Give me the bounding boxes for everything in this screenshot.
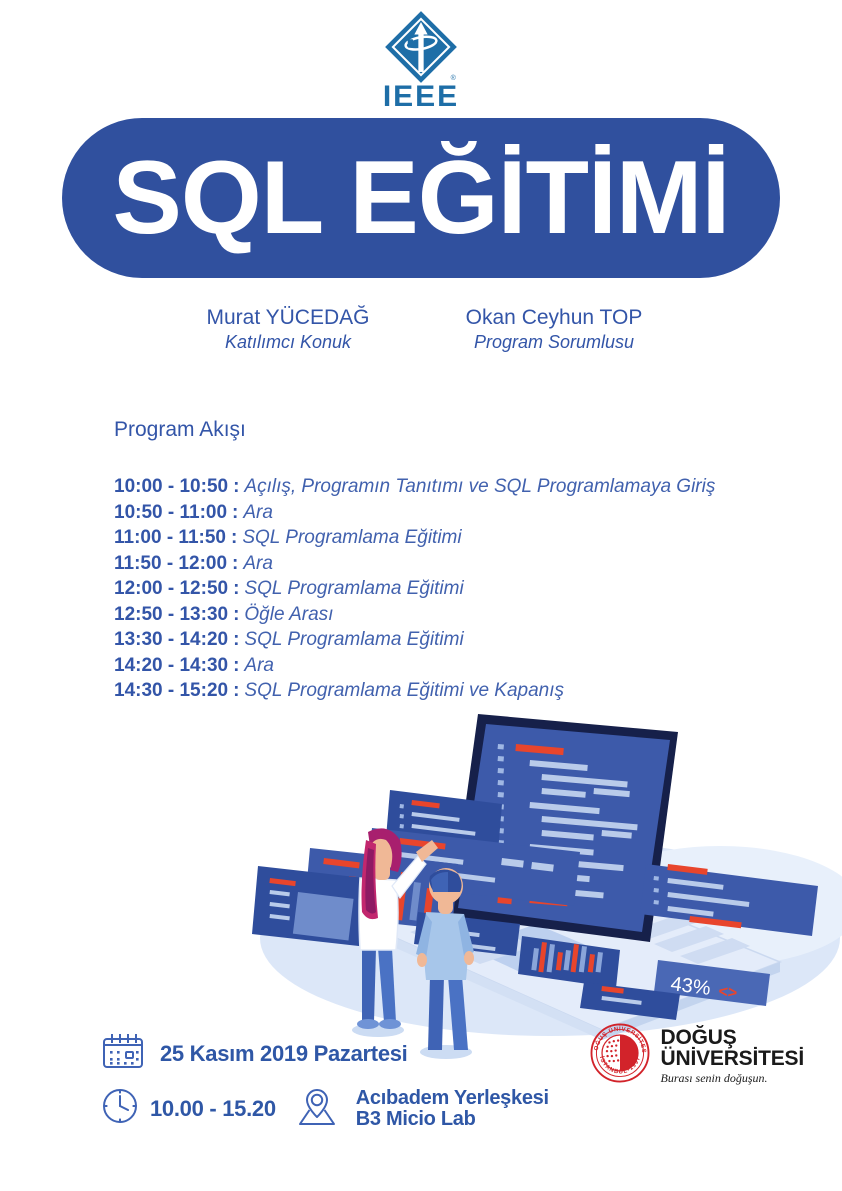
program-desc: Öğle Arası — [244, 602, 333, 628]
isometric-laptop-coding-illustration: 43% <> — [250, 700, 842, 1060]
calendar-icon — [100, 1031, 146, 1076]
program-heading: Program Akışı — [114, 418, 774, 442]
program-time: 11:50 - 12:00 — [114, 551, 227, 577]
event-date: 25 Kasım 2019 Pazartesi — [160, 1042, 408, 1065]
time-venue-block: 10.00 - 15.20 Acıbadem Yerleşkesi B3 Mic… — [100, 1083, 549, 1134]
program-separator: : — [228, 627, 244, 653]
speaker-role: Katılımcı Konuk — [183, 331, 393, 354]
poster-root: ® IEEE SQL EĞİTİMİ Murat YÜCEDAĞ Katılım… — [0, 0, 842, 1191]
university-name: DOĞUŞ ÜNİVERSİTESİ Burası senin doğuşun. — [661, 1027, 804, 1084]
program-separator: : — [228, 653, 244, 679]
program-desc: SQL Programlama Eğitimi — [244, 627, 463, 653]
program-rows: 10:00 - 10:50 : Açılış, Programın Tanıtı… — [114, 474, 774, 704]
program-time: 14:20 - 14:30 — [114, 653, 228, 679]
program-desc: Ara — [243, 500, 273, 526]
program-row: 14:20 - 14:30 : Ara — [114, 653, 774, 679]
program-separator: : — [228, 576, 244, 602]
speaker-name: Okan Ceyhun TOP — [449, 305, 659, 331]
program-desc: SQL Programlama Eğitimi — [244, 576, 463, 602]
speaker-name: Murat YÜCEDAĞ — [183, 305, 393, 331]
ieee-logo: ® IEEE — [0, 8, 842, 112]
speaker-list: Murat YÜCEDAĞ Katılımcı Konuk Okan Ceyhu… — [0, 305, 842, 355]
program-separator: : — [227, 500, 243, 526]
page-title: SQL EĞİTİMİ — [113, 146, 730, 250]
dogus-university-logo: DOĞUŞ ÜNİVERSİTESİ İSTANBUL-1997 DOĞUŞ Ü… — [589, 1022, 804, 1089]
university-line-2: ÜNİVERSİTESİ — [661, 1048, 804, 1069]
speaker-item: Okan Ceyhun TOP Program Sorumlusu — [449, 305, 659, 355]
ieee-wordmark: IEEE — [383, 82, 459, 112]
speaker-role: Program Sorumlusu — [449, 331, 659, 354]
program-row: 12:50 - 13:30 : Öğle Arası — [114, 602, 774, 628]
program-time: 13:30 - 14:20 — [114, 627, 228, 653]
program-time: 12:00 - 12:50 — [114, 576, 228, 602]
program-row: 11:50 - 12:00 : Ara — [114, 551, 774, 577]
program-separator: : — [226, 525, 242, 551]
title-banner: SQL EĞİTİMİ — [62, 118, 780, 278]
program-separator: : — [227, 551, 243, 577]
map-pin-icon — [294, 1083, 340, 1134]
program-row: 13:30 - 14:20 : SQL Programlama Eğitimi — [114, 627, 774, 653]
program-separator: : — [228, 678, 244, 704]
ieee-diamond-icon: ® — [382, 8, 460, 86]
program-time: 10:50 - 11:00 — [114, 500, 227, 526]
program-desc: Açılış, Programın Tanıtımı ve SQL Progra… — [244, 474, 715, 500]
university-seal-icon: DOĞUŞ ÜNİVERSİTESİ İSTANBUL-1997 — [589, 1022, 651, 1089]
program-desc: SQL Programlama Eğitimi — [242, 525, 461, 551]
speaker-item: Murat YÜCEDAĞ Katılımcı Konuk — [183, 305, 393, 355]
venue-line-2: B3 Micio Lab — [356, 1109, 549, 1130]
program-separator: : — [228, 602, 244, 628]
program-section: Program Akışı 10:00 - 10:50 : Açılış, Pr… — [114, 418, 774, 704]
code-bracket-glyph: <> — [718, 983, 739, 1002]
program-row: 10:00 - 10:50 : Açılış, Programın Tanıtı… — [114, 474, 774, 500]
program-desc: Ara — [244, 653, 274, 679]
date-block: 25 Kasım 2019 Pazartesi — [100, 1031, 408, 1076]
venue-block: Acıbadem Yerleşkesi B3 Micio Lab — [356, 1088, 549, 1130]
clock-icon — [100, 1086, 140, 1131]
footer: 25 Kasım 2019 Pazartesi 10.00 - 15.20 — [0, 1023, 842, 1143]
university-line-1: DOĞUŞ — [661, 1027, 804, 1048]
university-tagline: Burası senin doğuşun. — [661, 1072, 804, 1084]
program-time: 10:00 - 10:50 — [114, 474, 228, 500]
svg-text:®: ® — [451, 74, 457, 82]
program-separator: : — [228, 474, 244, 500]
program-time: 12:50 - 13:30 — [114, 602, 228, 628]
program-desc: Ara — [243, 551, 273, 577]
program-row: 11:00 - 11:50 : SQL Programlama Eğitimi — [114, 525, 774, 551]
venue-line-1: Acıbadem Yerleşkesi — [356, 1088, 549, 1109]
program-row: 12:00 - 12:50 : SQL Programlama Eğitimi — [114, 576, 774, 602]
program-row: 10:50 - 11:00 : Ara — [114, 500, 774, 526]
program-time: 14:30 - 15:20 — [114, 678, 228, 704]
program-time: 11:00 - 11:50 — [114, 525, 226, 551]
event-time: 10.00 - 15.20 — [150, 1097, 276, 1120]
